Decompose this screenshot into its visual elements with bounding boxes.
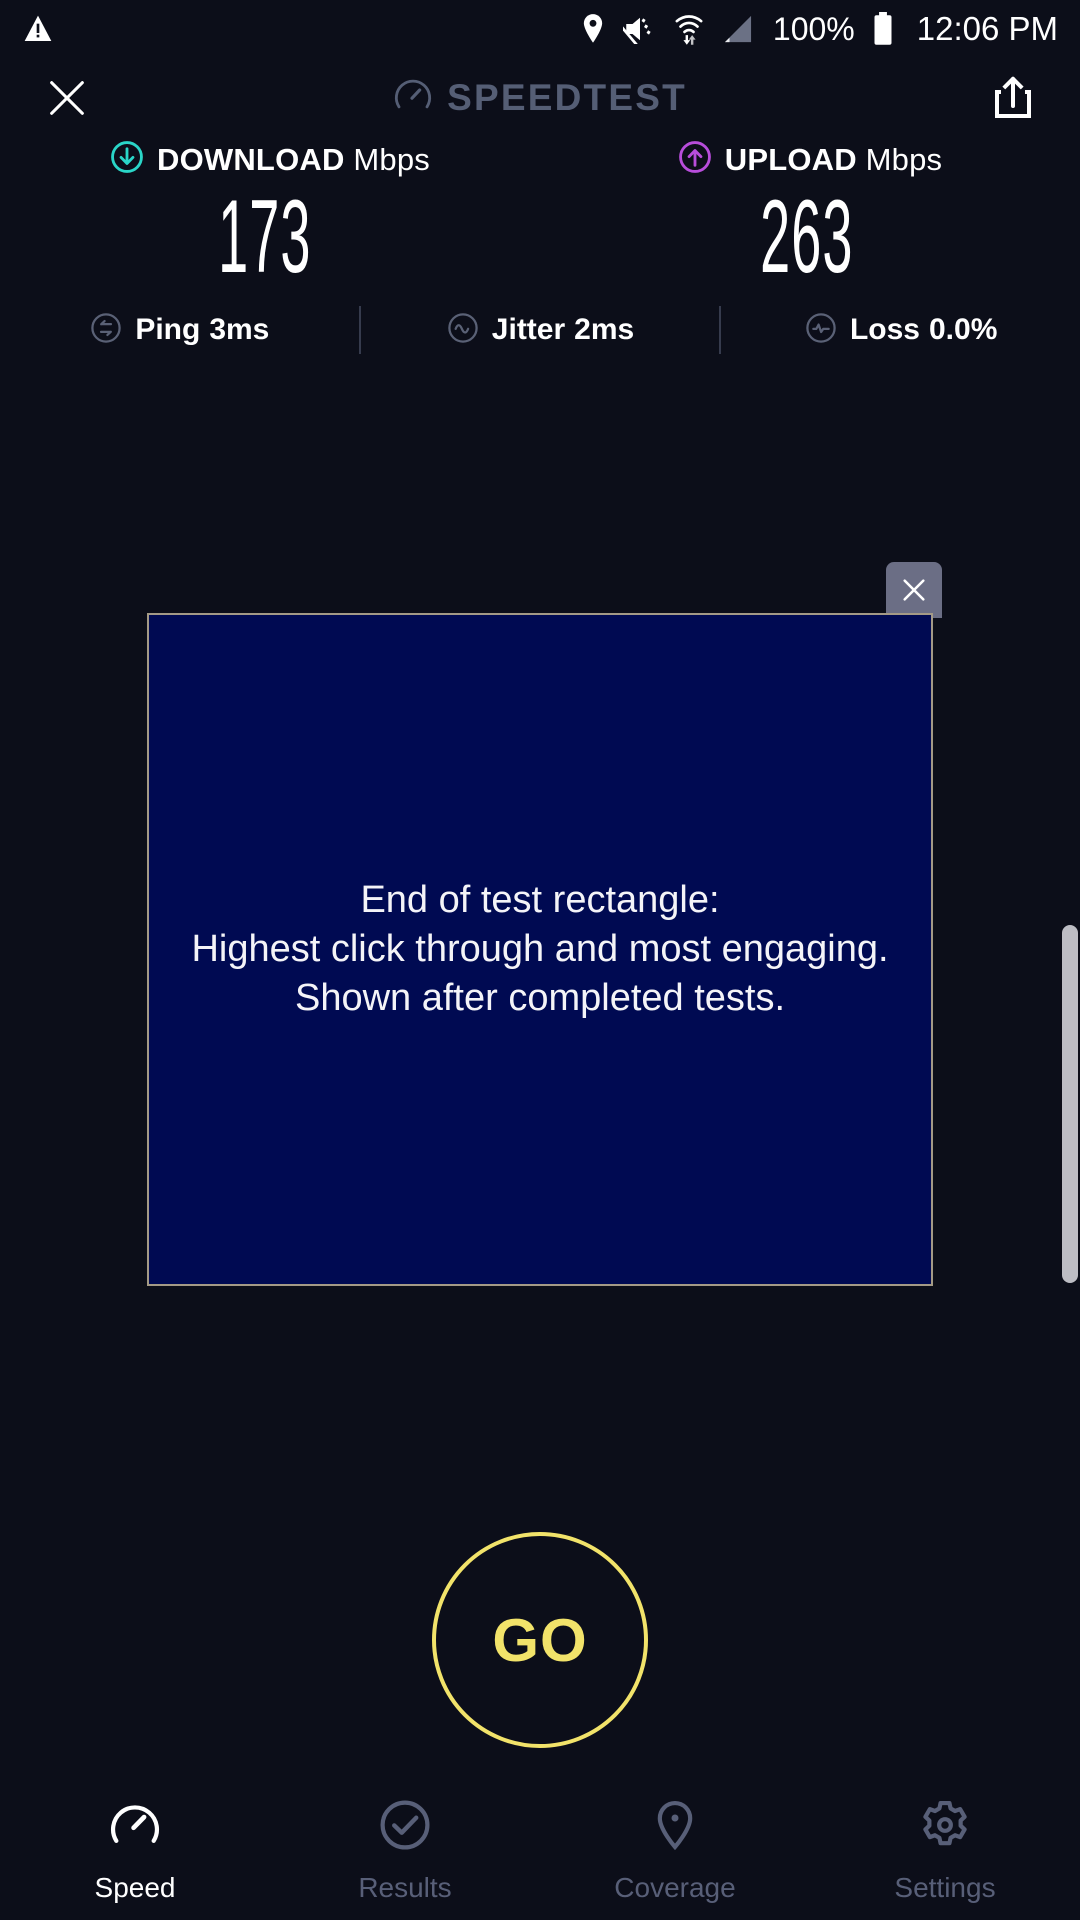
results-panel: DOWNLOAD Mbps 173 UPLOAD Mbps 263 [0,140,1080,289]
download-result: DOWNLOAD Mbps 173 [0,140,540,289]
metric-loss-text: Loss0.0% [850,313,997,347]
advertisement-banner[interactable]: End of test rectangle: Highest click thr… [147,613,933,1286]
download-arrow-icon [110,140,144,179]
battery-percentage: 100% [773,11,855,48]
status-bar-clock: 12:06 PM [917,10,1058,48]
app-logo: SPEEDTEST [0,76,1080,121]
upload-label: UPLOAD Mbps [725,142,943,178]
upload-arrow-icon [678,140,712,179]
metric-jitter-text: Jitter2ms [492,313,634,347]
speedometer-icon [393,76,433,121]
bottom-navigation: Speed Results Coverage [0,1780,1080,1920]
gear-icon [917,1797,973,1858]
metrics-row: Ping3ms Jitter2ms Loss0.0% [0,302,1080,358]
nav-label-results: Results [358,1872,451,1904]
volume-muted-icon [623,14,657,44]
status-bar: 100% 12:06 PM [0,0,1080,58]
wifi-transfer-icon [673,12,705,46]
location-pin-icon [579,13,607,45]
loss-icon [804,311,838,350]
battery-full-icon [871,12,895,46]
metric-ping-text: Ping3ms [135,313,269,347]
go-button[interactable]: GO [432,1532,648,1748]
page-scrollbar[interactable] [1062,925,1078,1283]
metric-ping: Ping3ms [0,311,359,350]
app-title: SPEEDTEST [447,77,687,119]
upload-result: UPLOAD Mbps 263 [540,140,1080,289]
ad-line-3: Shown after completed tests. [191,974,888,1023]
upload-value: 263 [760,185,853,289]
nav-label-speed: Speed [95,1872,176,1904]
ad-line-1: End of test rectangle: [191,876,888,925]
go-button-label: GO [492,1606,587,1675]
share-button[interactable] [984,69,1042,127]
nav-label-coverage: Coverage [614,1872,735,1904]
ad-line-2: Highest click through and most engaging. [191,925,888,974]
speedtest-app-screen: 100% 12:06 PM SPEEDTEST [0,0,1080,1920]
nav-item-coverage[interactable]: Coverage [540,1797,810,1904]
close-button[interactable] [38,69,96,127]
check-circle-icon [377,1797,433,1858]
metric-jitter: Jitter2ms [361,311,720,350]
speedometer-icon [107,1797,163,1858]
warning-triangle-icon [22,13,54,45]
ping-icon [89,311,123,350]
jitter-icon [446,311,480,350]
ad-text: End of test rectangle: Highest click thr… [191,876,888,1023]
nav-label-settings: Settings [894,1872,995,1904]
nav-item-settings[interactable]: Settings [810,1797,1080,1904]
download-label: DOWNLOAD Mbps [157,142,430,178]
download-value: 173 [218,185,311,289]
nav-item-results[interactable]: Results [270,1797,540,1904]
app-header: SPEEDTEST [0,58,1080,138]
metric-loss: Loss0.0% [721,311,1080,350]
map-pin-icon [647,1797,703,1858]
ad-close-button[interactable] [886,562,942,618]
cellular-signal-icon [721,13,755,45]
nav-item-speed[interactable]: Speed [0,1797,270,1904]
